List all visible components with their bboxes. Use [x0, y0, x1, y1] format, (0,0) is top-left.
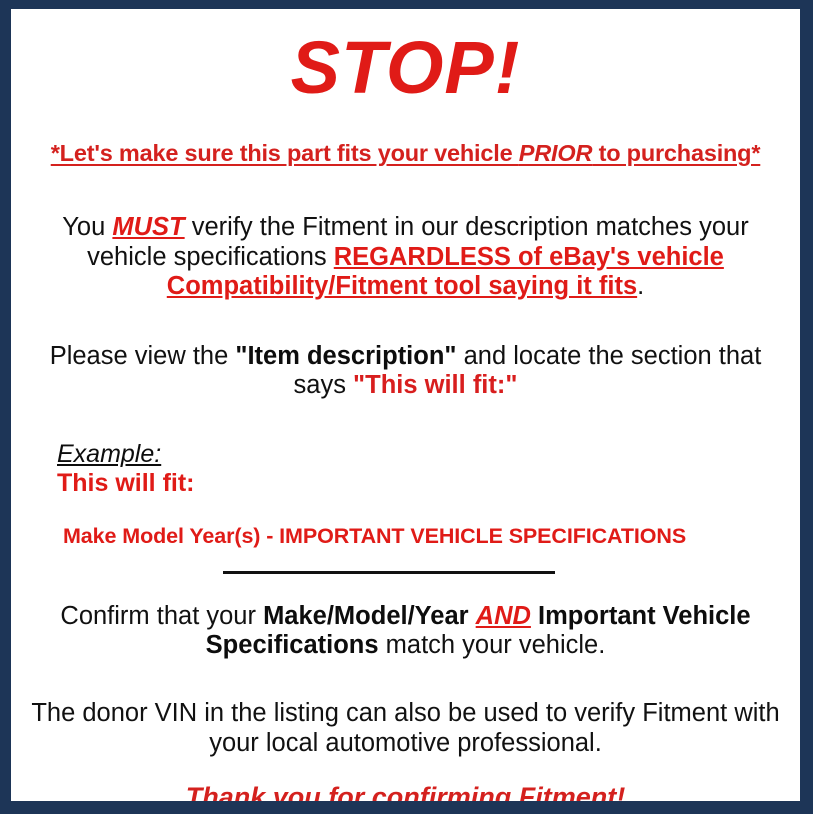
confirm-space-1: [469, 602, 476, 630]
this-will-fit-quote: "This will fit:": [353, 371, 517, 399]
stop-headline: STOP!: [11, 9, 800, 105]
tagline-emphasis-prior: PRIOR: [519, 140, 592, 166]
must-verify-paragraph: You MUST verify the Fitment in our descr…: [11, 167, 800, 302]
tagline-suffix: to purchasing*: [592, 140, 760, 166]
example-fit-heading: This will fit:: [57, 467, 800, 498]
fitment-tagline: *Let's make sure this part fits your veh…: [11, 105, 800, 167]
make-model-year-emphasis: Make/Model/Year: [263, 602, 469, 630]
must-emphasis: MUST: [112, 213, 184, 241]
example-label: Example:: [57, 441, 800, 467]
fitment-notice-body: STOP! *Let's make sure this part fits yo…: [11, 9, 800, 801]
desc-text-part-1: Please view the: [50, 342, 236, 370]
item-description-emphasis: "Item description": [235, 342, 456, 370]
divider-container: [11, 549, 800, 574]
confirm-paragraph: Confirm that your Make/Model/Year AND Im…: [11, 574, 800, 661]
and-emphasis: AND: [476, 602, 531, 630]
tagline-prefix: *Let's make sure this part fits your veh…: [51, 140, 519, 166]
thank-you-line: Thank you for confirming Fitment!: [11, 758, 800, 801]
must-text-part-3: .: [637, 272, 644, 300]
fitment-notice-border: STOP! *Let's make sure this part fits yo…: [0, 0, 813, 814]
donor-vin-paragraph: The donor VIN in the listing can also be…: [11, 661, 800, 758]
item-description-paragraph: Please view the "Item description" and l…: [11, 302, 800, 401]
confirm-text-part-4: match your vehicle.: [379, 631, 606, 659]
example-specification-line: Make Model Year(s) - IMPORTANT VEHICLE S…: [57, 498, 800, 549]
must-text-part-1: You: [62, 213, 112, 241]
example-block: Example: This will fit: Make Model Year(…: [11, 401, 800, 549]
confirm-space-2: [531, 602, 538, 630]
confirm-text-part-1: Confirm that your: [60, 602, 263, 630]
